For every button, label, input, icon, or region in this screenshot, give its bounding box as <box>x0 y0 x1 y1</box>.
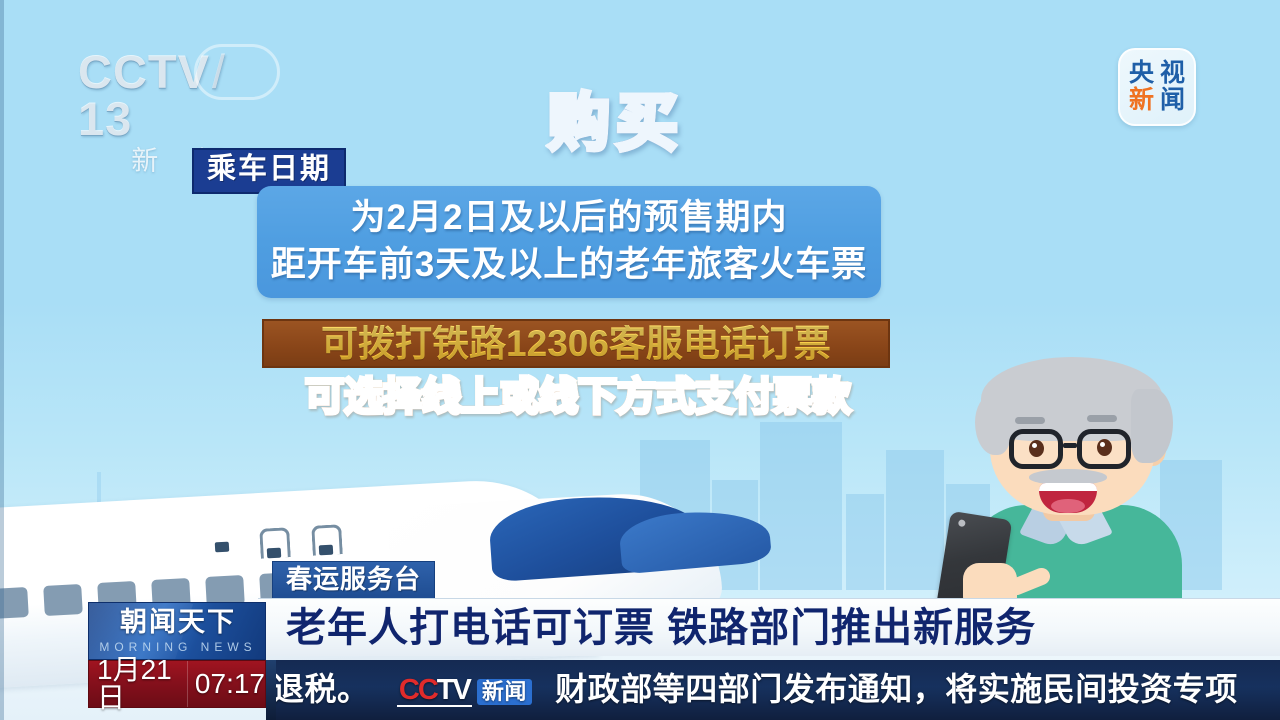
info-panel: 为2月2日及以后的预售期内 距开车前3天及以上的老年旅客火车票 <box>257 186 881 298</box>
broadcast-screen: CCTV/13 新 闻 央 视 新 闻 购买 乘车日期 为2月2日及以后的预售期… <box>0 0 1280 720</box>
datetime-divider <box>187 661 188 707</box>
elderly-man-illustration <box>935 355 1215 620</box>
payment-highlight-text: 可选择线上或线下方式支付票款 <box>264 378 892 417</box>
ticker-left-cap <box>266 660 276 720</box>
logo-pill-outline <box>194 44 280 100</box>
ticker-prefix: 退税。 <box>272 671 370 707</box>
broadcast-date: 1月21日 <box>89 656 180 712</box>
hotline-highlight-text: 可拨打铁路12306客服电话订票 <box>321 325 831 362</box>
category-badge: 春运服务台 <box>272 561 435 599</box>
cctv-news-watermark: 央 视 新 闻 <box>1118 48 1196 126</box>
ticker-brand-tv: TV <box>437 674 470 706</box>
datetime-display: 1月21日 07:17 <box>88 660 266 708</box>
watermark-char-2: 视 <box>1157 60 1188 88</box>
program-logo: 朝闻天下 MORNING NEWS <box>88 602 266 660</box>
headline-bar: 老年人打电话可订票 铁路部门推出新服务 <box>258 598 1280 656</box>
ticker-brand-news: 新闻 <box>477 679 532 705</box>
left-edge-band <box>0 0 4 720</box>
ticker-text: 财政部等四部门发布通知，将实施民间投资专项 <box>555 671 1238 707</box>
headline-text: 老年人打电话可订票 铁路部门推出新服务 <box>286 608 1036 648</box>
broadcast-time: 07:17 <box>195 670 265 698</box>
section-title: 购买 <box>548 93 684 155</box>
program-name-cn: 朝闻天下 <box>89 609 266 636</box>
watermark-char-1: 央 <box>1126 60 1157 88</box>
cctv-news-ticker-logo: CCTV 新闻 <box>397 676 532 707</box>
info-panel-line-2: 距开车前3天及以上的老年旅客火车票 <box>257 247 881 282</box>
info-panel-line-1: 为2月2日及以后的预售期内 <box>257 200 881 235</box>
ticker-brand-cc: CC <box>399 674 437 706</box>
watermark-char-4: 闻 <box>1157 87 1188 115</box>
news-ticker: 退税。 CCTV 新闻 财政部等四部门发布通知，将实施民间投资专项 <box>266 660 1280 720</box>
ticker-content: 退税。 CCTV 新闻 财政部等四部门发布通知，将实施民间投资专项 <box>272 673 1238 707</box>
channel-number: 13 <box>78 92 132 145</box>
cctv-wordmark: CCTV <box>78 45 210 98</box>
cctv13-channel-logo: CCTV/13 新 闻 <box>78 48 278 138</box>
hotline-highlight-bar: 可拨打铁路12306客服电话订票 <box>262 319 890 368</box>
watermark-char-3: 新 <box>1126 87 1157 115</box>
program-name-en: MORNING NEWS <box>89 641 266 653</box>
